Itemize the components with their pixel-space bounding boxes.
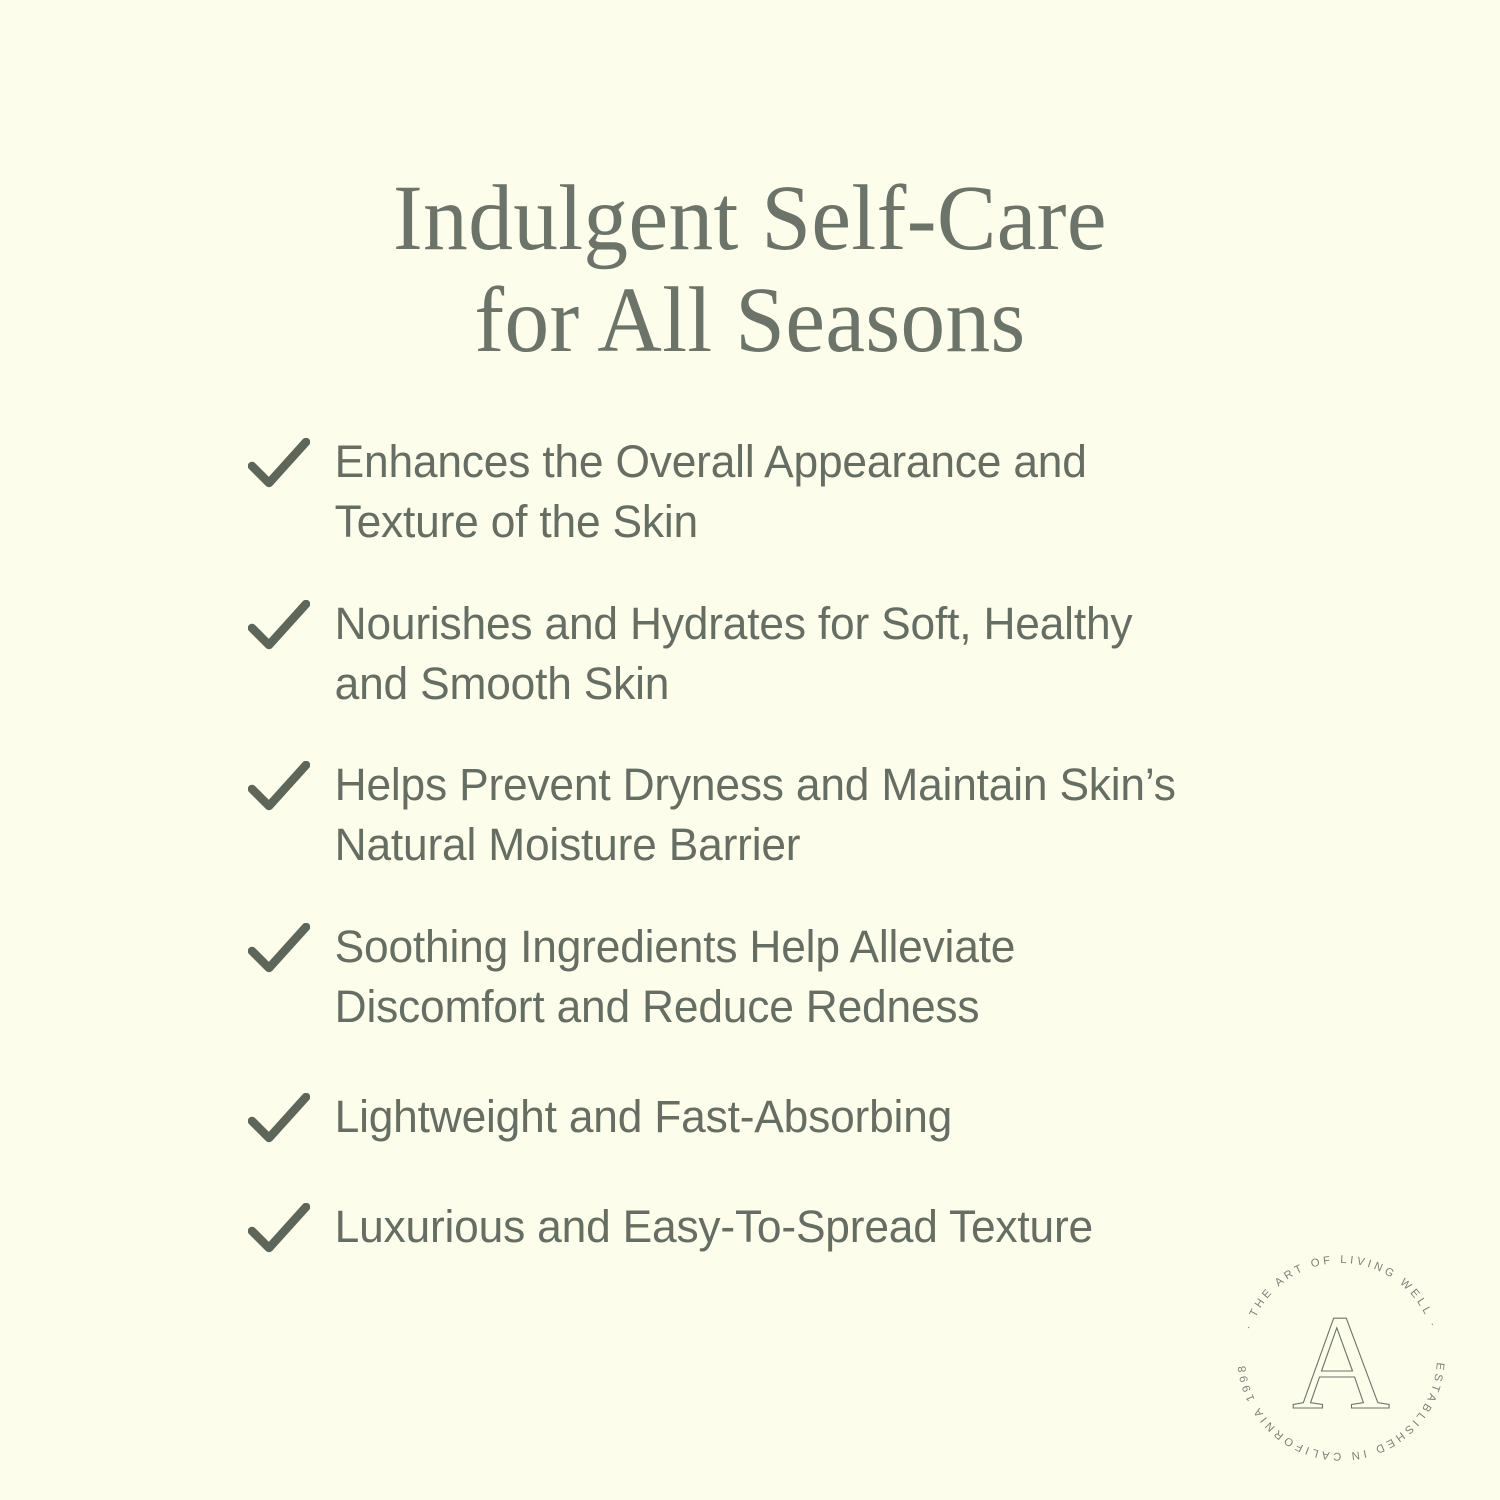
list-item-label: Luxurious and Easy-To-Spread Texture xyxy=(310,1197,1093,1257)
check-icon xyxy=(248,438,310,492)
list-item-label: Helps Prevent Dryness and Maintain Skin’… xyxy=(310,755,1195,875)
check-icon xyxy=(248,1203,310,1257)
logo-monogram: A xyxy=(1292,1288,1390,1438)
list-item: Soothing Ingredients Help Alleviate Disc… xyxy=(248,917,1208,1037)
list-item: Nourishes and Hydrates for Soft, Healthy… xyxy=(248,594,1208,714)
list-item: Helps Prevent Dryness and Maintain Skin’… xyxy=(248,755,1208,875)
title-line-1: Indulgent Self-Care xyxy=(30,168,1470,270)
check-icon xyxy=(248,923,310,977)
list-item-label: Nourishes and Hydrates for Soft, Healthy… xyxy=(310,594,1195,714)
list-item-label: Lightweight and Fast-Absorbing xyxy=(310,1087,952,1147)
check-icon xyxy=(248,1093,310,1147)
check-icon xyxy=(248,600,310,654)
promo-card: Indulgent Self-Care for All Seasons Enha… xyxy=(0,0,1500,1500)
benefits-list: Enhances the Overall Appearance and Text… xyxy=(248,432,1208,1299)
title-line-2: for All Seasons xyxy=(30,270,1470,372)
list-item: Enhances the Overall Appearance and Text… xyxy=(248,432,1208,552)
brand-logo-badge: · THE ART OF LIVING WELL · ESTABLISHED I… xyxy=(1222,1238,1460,1476)
check-icon xyxy=(248,761,310,815)
list-item-label: Soothing Ingredients Help Alleviate Disc… xyxy=(310,917,1195,1037)
page-title: Indulgent Self-Care for All Seasons xyxy=(0,168,1500,373)
list-item: Lightweight and Fast-Absorbing xyxy=(248,1087,1208,1147)
list-item: Luxurious and Easy-To-Spread Texture xyxy=(248,1197,1208,1257)
list-item-label: Enhances the Overall Appearance and Text… xyxy=(310,432,1195,552)
